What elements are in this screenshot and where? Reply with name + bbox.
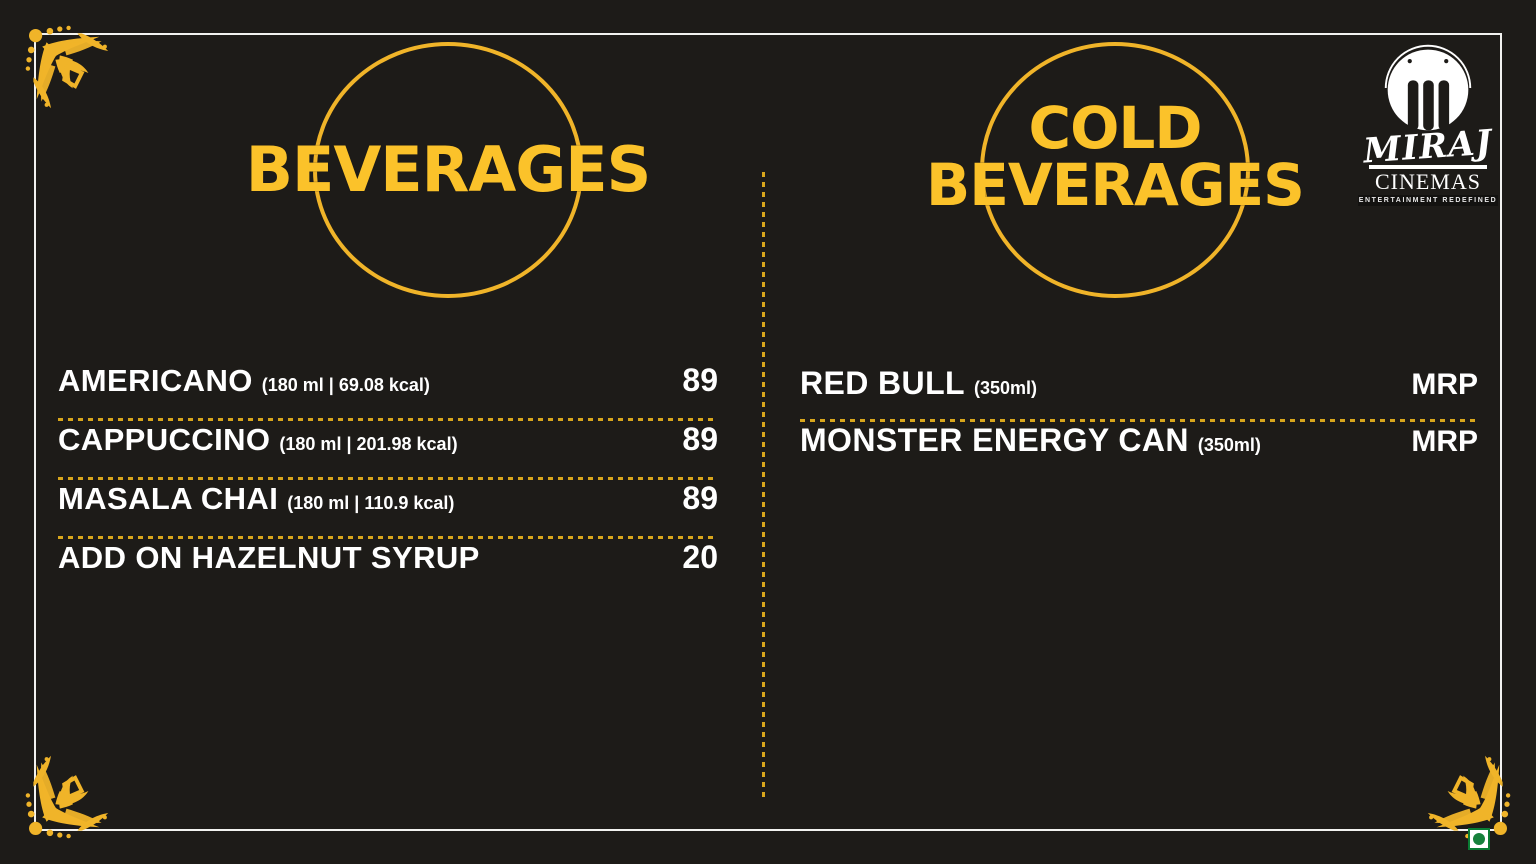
section-beverages: BEVERAGES AMERICANO (180 ml | 69.08 kcal… bbox=[58, 0, 718, 300]
item-price: 89 bbox=[682, 480, 718, 517]
section-title-line-1: BEVERAGES bbox=[246, 133, 651, 206]
item-price: 89 bbox=[682, 362, 718, 399]
section-title-line-2: BEVERAGES bbox=[855, 157, 1375, 214]
section-title: COLD BEVERAGES bbox=[855, 100, 1375, 214]
item-description: (180 ml | 69.08 kcal) bbox=[262, 375, 430, 396]
item-description: (180 ml | 110.9 kcal) bbox=[287, 493, 454, 514]
veg-dot bbox=[1473, 833, 1485, 845]
item-left-group: CAPPUCCINO (180 ml | 201.98 kcal) bbox=[58, 422, 458, 458]
list-item[interactable]: MASALA CHAI (180 ml | 110.9 kcal) 89 bbox=[58, 480, 718, 536]
item-list-beverages: AMERICANO (180 ml | 69.08 kcal) 89 CAPPU… bbox=[58, 362, 718, 595]
item-left-group: RED BULL (350ml) bbox=[800, 365, 1037, 402]
miraj-circle-icon bbox=[1380, 40, 1476, 136]
corner-ornament-icon bbox=[18, 736, 128, 846]
item-name: CAPPUCCINO bbox=[58, 422, 270, 458]
item-name: RED BULL bbox=[800, 365, 965, 402]
menu-board: BEVERAGES AMERICANO (180 ml | 69.08 kcal… bbox=[0, 0, 1536, 864]
miraj-cinemas-logo: MIRAJ CINEMAS ENTERTAINMENT REDEFINED bbox=[1358, 40, 1498, 206]
item-name: MONSTER ENERGY CAN bbox=[800, 422, 1189, 459]
item-left-group: MASALA CHAI (180 ml | 110.9 kcal) bbox=[58, 481, 454, 517]
section-header-beverages: BEVERAGES bbox=[58, 0, 718, 300]
list-item[interactable]: MONSTER ENERGY CAN (350ml) MRP bbox=[800, 422, 1478, 476]
item-name: MASALA CHAI bbox=[58, 481, 278, 517]
corner-ornament-icon bbox=[1408, 736, 1518, 846]
item-left-group: AMERICANO (180 ml | 69.08 kcal) bbox=[58, 363, 430, 399]
veg-mark-icon bbox=[1468, 828, 1490, 850]
item-price: MRP bbox=[1411, 368, 1478, 402]
item-description: (350ml) bbox=[1198, 435, 1261, 456]
logo-brand-name: MIRAJ bbox=[1357, 125, 1499, 169]
logo-wordmark: MIRAJ CINEMAS ENTERTAINMENT REDEFINED bbox=[1358, 130, 1498, 206]
logo-tagline: ENTERTAINMENT REDEFINED bbox=[1358, 195, 1498, 206]
item-list-cold-beverages: RED BULL (350ml) MRP MONSTER ENERGY CAN … bbox=[800, 365, 1478, 476]
item-name: ADD ON HAZELNUT SYRUP bbox=[58, 540, 480, 576]
column-divider bbox=[762, 172, 765, 800]
item-price: MRP bbox=[1411, 425, 1478, 459]
list-item[interactable]: CAPPUCCINO (180 ml | 201.98 kcal) 89 bbox=[58, 421, 718, 477]
item-price: 20 bbox=[682, 539, 718, 576]
item-price: 89 bbox=[682, 421, 718, 458]
item-description: (350ml) bbox=[974, 378, 1037, 399]
list-item[interactable]: RED BULL (350ml) MRP bbox=[800, 365, 1478, 419]
logo-brand-sub: CINEMAS bbox=[1358, 171, 1498, 193]
item-left-group: MONSTER ENERGY CAN (350ml) bbox=[800, 422, 1261, 459]
section-title: BEVERAGES bbox=[188, 140, 708, 201]
item-description: (180 ml | 201.98 kcal) bbox=[279, 434, 457, 455]
list-item[interactable]: ADD ON HAZELNUT SYRUP 20 bbox=[58, 539, 718, 595]
item-left-group: ADD ON HAZELNUT SYRUP bbox=[58, 540, 489, 576]
item-name: AMERICANO bbox=[58, 363, 253, 399]
list-item[interactable]: AMERICANO (180 ml | 69.08 kcal) 89 bbox=[58, 362, 718, 418]
